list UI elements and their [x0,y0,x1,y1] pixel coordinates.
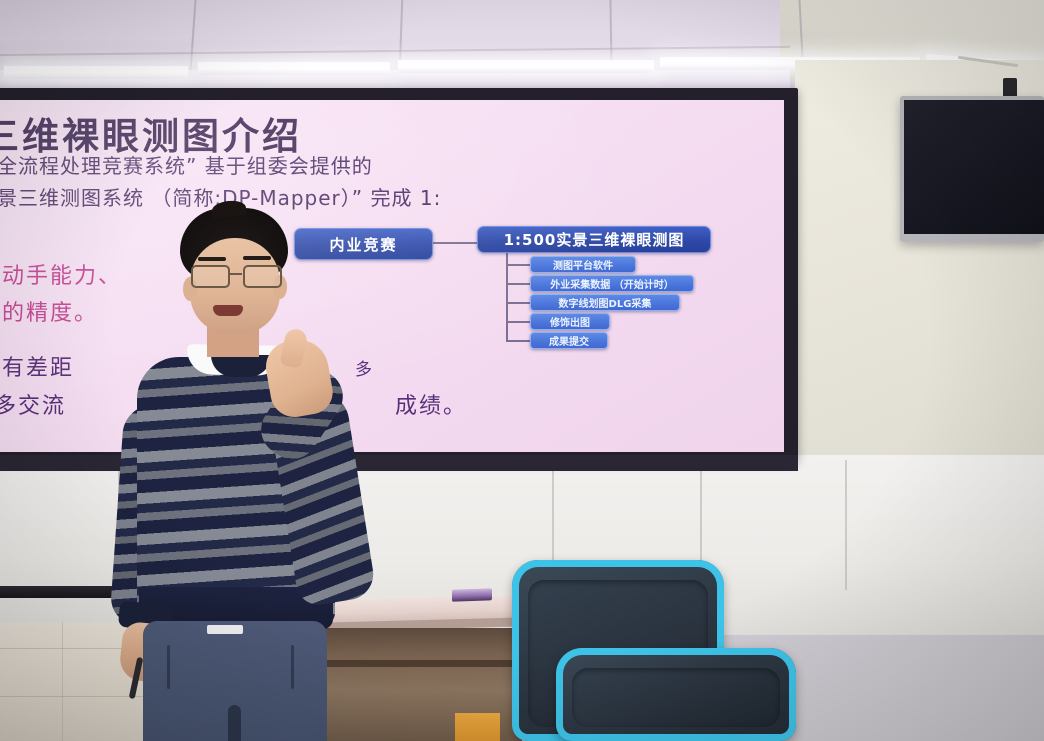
waistband-tag [207,625,243,634]
wall-mounted-display[interactable] [900,96,1044,242]
eyebrow-left [198,257,226,261]
presenter [95,205,435,741]
diagram-connector [506,321,530,323]
panel-divider [845,460,847,590]
chair-front-right[interactable] [556,648,796,741]
lens-left [191,265,230,288]
eyeglasses-icon [191,265,283,285]
fluorescent-light-panel [398,60,654,73]
diagram-connector [506,340,530,342]
eyebrow-right [243,256,271,260]
diagram-sub-box[interactable]: 外业采集数据 （开始计时） [530,275,694,292]
diagram-sub-box[interactable]: 修饰出图 [530,313,610,330]
diagram-sub-box[interactable]: 成果提交 [530,332,608,349]
diagram-connector [506,283,530,285]
trouser-seam [228,705,241,741]
presentation-remote[interactable] [452,588,492,601]
presenter-mouth [213,305,243,316]
diagram-box-top[interactable]: 1:500实景三维裸眼测图 [477,226,711,253]
slide-body-line-4: 间多交流 [0,388,66,420]
diagram-connector [506,264,530,266]
diagram-connector [506,302,530,304]
lens-right [243,265,282,288]
diagram-sub-box[interactable]: 测图平台软件 [530,256,636,273]
fluorescent-light-panel [4,66,188,79]
diagram-sub-box[interactable]: 数字线划图DLG采集 [530,294,680,311]
podium-storage-box [455,713,500,741]
slide-body-line-3: 组有差距 [0,350,74,382]
diagram-connector [431,242,477,244]
slide-body-line-2: 集的精度。 [0,295,98,327]
fluorescent-light-panel [198,62,390,75]
glasses-bridge [228,273,242,275]
tv-screen [904,100,1044,234]
slide-subtitle-line-1: 业全流程处理竞赛系统” 基于组委会提供的 [0,150,373,179]
classroom-scene: 三维裸眼测图介绍 业全流程处理竞赛系统” 基于组委会提供的 实景三维测图系统 （… [0,0,1044,741]
chair-backrest [572,668,780,727]
